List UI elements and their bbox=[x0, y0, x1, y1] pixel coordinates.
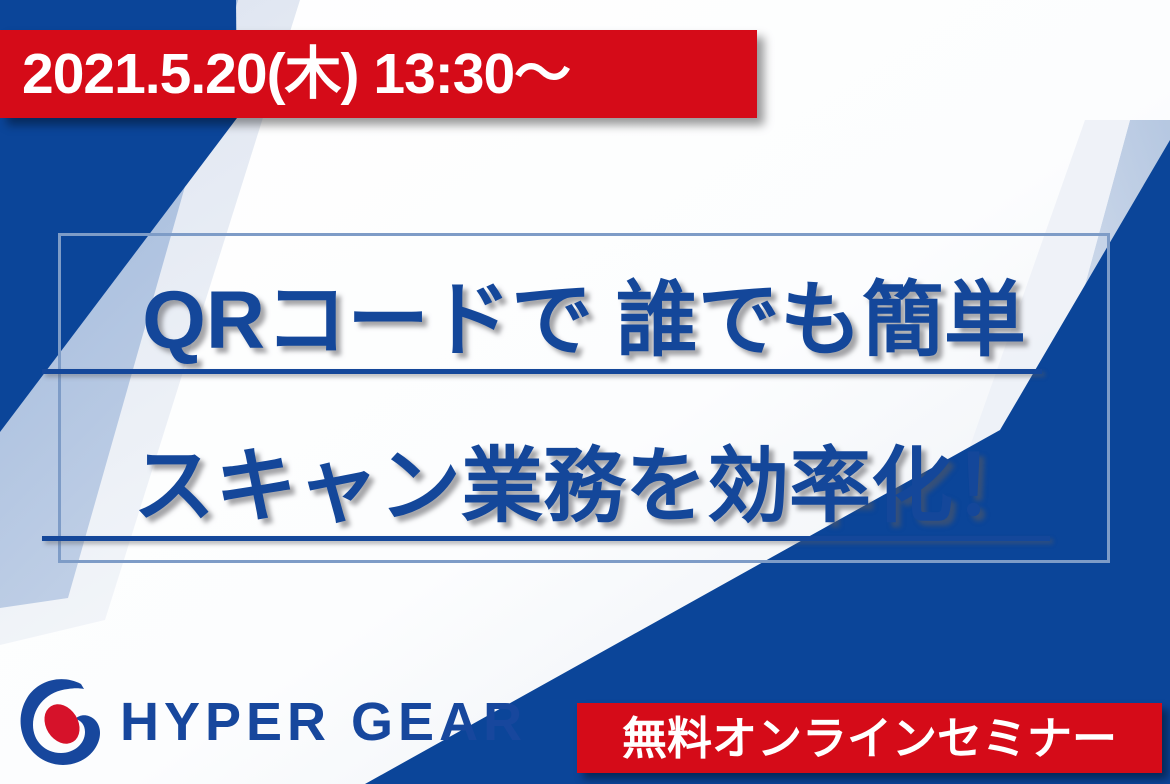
headline-underline-1 bbox=[42, 369, 1042, 374]
headline-box: QRコードで 誰でも簡単 スキャン業務を効率化！ bbox=[58, 233, 1110, 563]
date-banner: 2021.5.20(木) 13:30～ bbox=[0, 30, 757, 118]
headline-underline-2 bbox=[42, 536, 1050, 541]
date-banner-text: 2021.5.20(木) 13:30～ bbox=[0, 46, 570, 103]
headline-line-2: スキャン業務を効率化！ bbox=[61, 446, 1107, 528]
hyper-gear-mark-icon bbox=[18, 676, 104, 768]
headline-line-1: QRコードで 誰でも簡単 bbox=[61, 280, 1107, 362]
seminar-banner: 2021.5.20(木) 13:30～ QRコードで 誰でも簡単 スキャン業務を… bbox=[0, 0, 1170, 784]
hyper-gear-wordmark: HYPER GEAR bbox=[120, 695, 527, 749]
seminar-badge-text: 無料オンラインセミナー bbox=[622, 716, 1117, 761]
hyper-gear-logo: HYPER GEAR bbox=[18, 676, 527, 768]
seminar-badge: 無料オンラインセミナー bbox=[577, 703, 1162, 773]
